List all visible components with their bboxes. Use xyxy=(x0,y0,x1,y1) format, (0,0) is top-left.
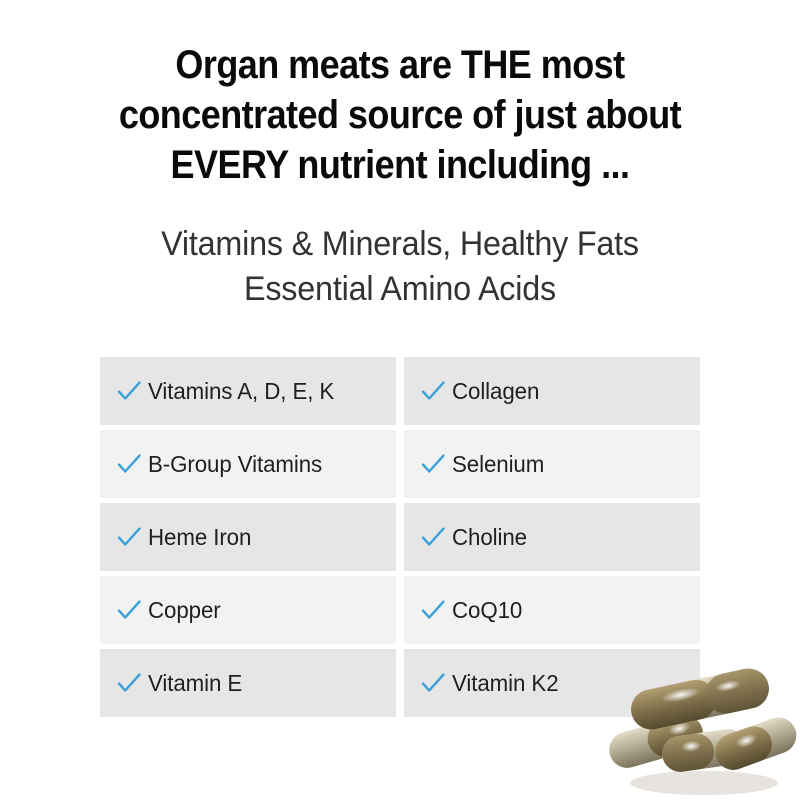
benefit-label: Selenium xyxy=(452,451,544,478)
benefit-label: Collagen xyxy=(452,378,539,405)
table-row: Vitamins A, D, E, K Collagen xyxy=(100,357,700,425)
page-subtitle: Vitamins & Minerals, Healthy Fats Essent… xyxy=(77,222,723,312)
check-icon xyxy=(116,378,142,404)
list-item: Vitamin E xyxy=(100,649,396,717)
check-icon xyxy=(420,524,446,550)
check-icon xyxy=(420,378,446,404)
benefit-label: Choline xyxy=(452,524,527,551)
nutrients-table: Vitamins A, D, E, K Collagen B-Group Vit… xyxy=(100,357,700,717)
list-item: CoQ10 xyxy=(404,576,700,644)
benefit-label: Vitamins A, D, E, K xyxy=(148,378,334,405)
page-title: Organ meats are THE most concentrated so… xyxy=(94,40,706,190)
list-item: Heme Iron xyxy=(100,503,396,571)
benefit-label: B-Group Vitamins xyxy=(148,451,322,478)
headline-line-3: EVERY nutrient including ... xyxy=(94,140,706,190)
check-icon xyxy=(116,524,142,550)
list-item: Choline xyxy=(404,503,700,571)
table-row: Vitamin E Vitamin K2 xyxy=(100,649,700,717)
list-item: Vitamins A, D, E, K xyxy=(100,357,396,425)
table-row: Copper CoQ10 xyxy=(100,576,700,644)
benefit-label: Copper xyxy=(148,597,221,624)
benefit-label: Heme Iron xyxy=(148,524,251,551)
list-item: Copper xyxy=(100,576,396,644)
check-icon xyxy=(420,670,446,696)
check-icon xyxy=(116,670,142,696)
subtitle-line-1: Vitamins & Minerals, Healthy Fats xyxy=(77,222,723,267)
list-item: B-Group Vitamins xyxy=(100,430,396,498)
subtitle-line-2: Essential Amino Acids xyxy=(77,267,723,312)
list-item: Collagen xyxy=(404,357,700,425)
check-icon xyxy=(116,597,142,623)
table-row: Heme Iron Choline xyxy=(100,503,700,571)
table-row: B-Group Vitamins Selenium xyxy=(100,430,700,498)
headline-line-2: concentrated source of just about xyxy=(94,90,706,140)
check-icon xyxy=(420,597,446,623)
list-item: Vitamin K2 xyxy=(404,649,700,717)
benefit-label: Vitamin E xyxy=(148,670,242,697)
list-item: Selenium xyxy=(404,430,700,498)
benefit-label: Vitamin K2 xyxy=(452,670,559,697)
check-icon xyxy=(420,451,446,477)
promo-graphic: Organ meats are THE most concentrated so… xyxy=(0,0,800,800)
benefit-label: CoQ10 xyxy=(452,597,522,624)
headline-line-1: Organ meats are THE most xyxy=(94,40,706,90)
check-icon xyxy=(116,451,142,477)
